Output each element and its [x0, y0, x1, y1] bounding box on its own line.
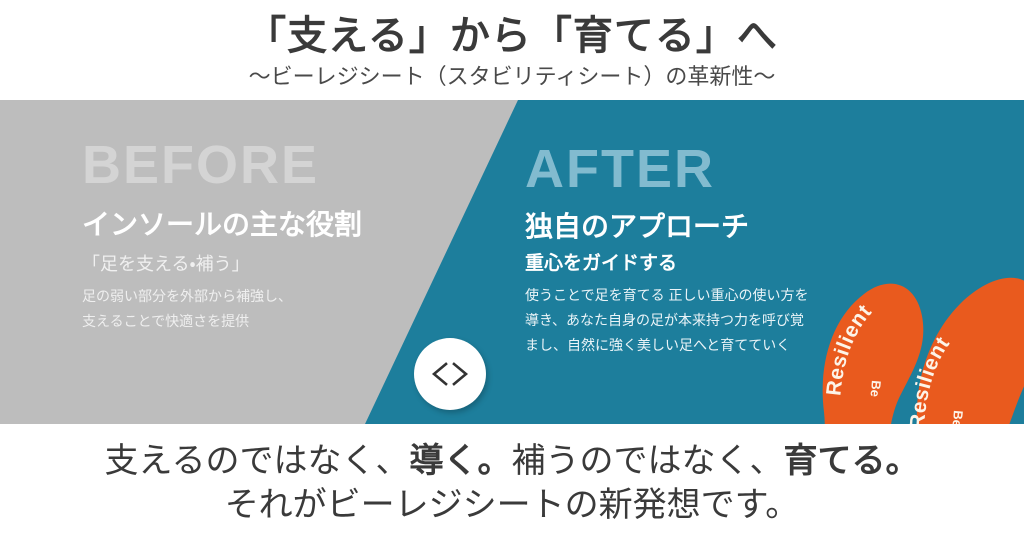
- after-heading: 独自のアプローチ: [525, 210, 749, 244]
- banner-footer: 支えるのではなく、導く。補うのではなく、育てる。 それがビーレジシートの新発想で…: [0, 424, 1024, 537]
- footer-text-normal-1: 支えるのではなく、: [105, 442, 410, 480]
- before-body-line: 支えることで快適さを提供: [82, 309, 292, 334]
- page-subtitle: 〜ビーレジシート（スタビリティシート）の革新性〜: [0, 65, 1024, 89]
- comparison-band: BEFORE インソールの主な役割 「足を支える・補う」 足の弱い部分を外部から…: [0, 100, 1024, 424]
- before-body: 足の弱い部分を外部から補強し、 支えることで快適さを提供: [82, 284, 292, 333]
- after-subheading: 重心をガイドする: [525, 252, 677, 277]
- after-label: AFTER: [525, 142, 715, 196]
- before-subheading: 「足を支える・補う」: [82, 253, 250, 276]
- page-title: 「支える」から「育てる」へ: [0, 14, 1024, 58]
- before-heading: インソールの主な役割: [82, 208, 362, 242]
- before-label: BEFORE: [82, 138, 319, 192]
- after-body: 使うことで足を育てる 正しい重心の使い方を導き、あなた自身の足が本来持つ力を呼び…: [525, 283, 815, 358]
- footer-line-2: それがビーレジシートの新発想です。: [0, 486, 1024, 525]
- banner-header: 「支える」から「育てる」へ 〜ビーレジシート（スタビリティシート）の革新性〜: [0, 0, 1024, 100]
- chevron-left-right-icon: [429, 361, 471, 387]
- promo-banner: 「支える」から「育てる」へ 〜ビーレジシート（スタビリティシート）の革新性〜 B…: [0, 0, 1024, 537]
- footer-text-emphasis-1: 導く。: [409, 442, 511, 480]
- comparison-divider-badge[interactable]: [414, 338, 486, 410]
- before-body-line: 足の弱い部分を外部から補強し、: [82, 284, 292, 309]
- footer-text-normal-2: 補うのではなく、: [511, 442, 783, 480]
- footer-line-1: 支えるのではなく、導く。補うのではなく、育てる。: [0, 442, 1024, 481]
- footer-text-emphasis-2: 育てる。: [783, 442, 919, 480]
